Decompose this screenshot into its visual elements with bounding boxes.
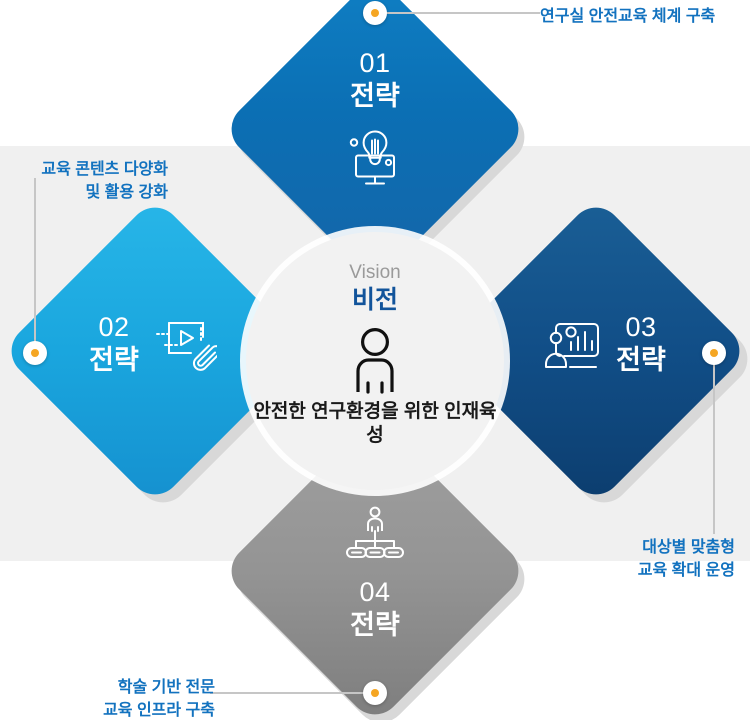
connector-line-01 xyxy=(385,12,540,14)
connector-dot-04[interactable] xyxy=(363,681,387,705)
connector-dot-02[interactable] xyxy=(23,341,47,365)
strategy-label-02: 교육 콘텐츠 다양화 및 활용 강화 xyxy=(18,158,168,204)
connector-line-04 xyxy=(210,692,366,694)
connector-dot-01[interactable] xyxy=(363,1,387,25)
vision-circle[interactable]: Vision 비전 안전한 연구환경을 위한 인재육성 xyxy=(246,232,504,490)
strategy-label-01: 연구실 안전교육 체계 구축 xyxy=(540,5,715,28)
vision-description: 안전한 연구환경을 위한 인재육성 xyxy=(246,400,504,449)
strategy-diagram: 01 전략 02 전략 xyxy=(0,0,750,720)
vision-eyebrow: Vision xyxy=(349,262,400,284)
person-icon xyxy=(347,326,403,396)
strategy-label-03: 대상별 맞춤형 교육 확대 운영 xyxy=(615,536,735,582)
strategy-label-04: 학술 기반 전문 교육 인프라 구축 xyxy=(85,676,215,720)
vision-title: 비전 xyxy=(352,285,398,316)
connector-dot-03[interactable] xyxy=(702,341,726,365)
connector-line-03 xyxy=(713,362,715,534)
